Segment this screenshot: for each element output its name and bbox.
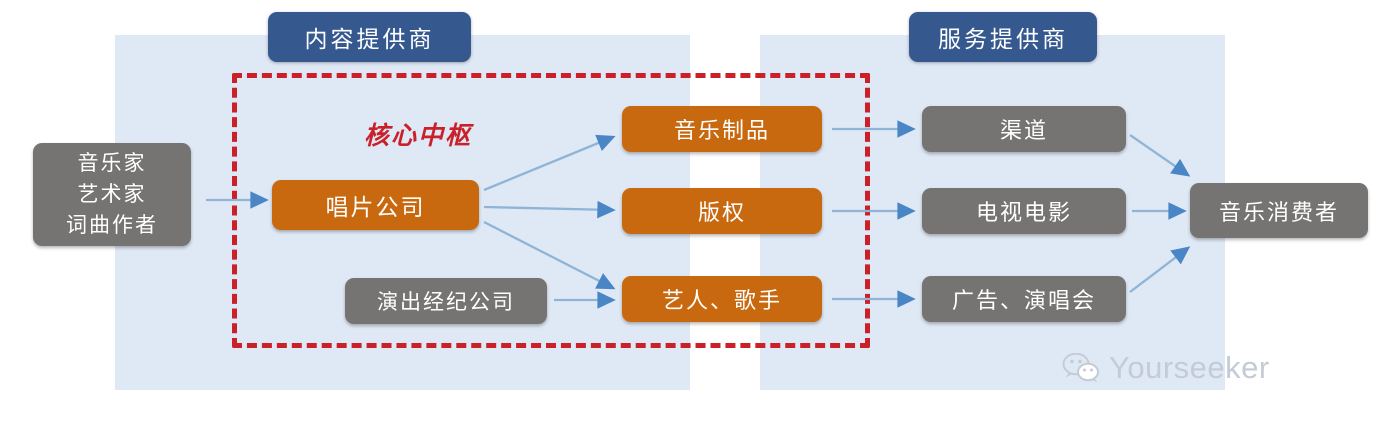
node-music-product-label: 音乐制品 [674, 113, 770, 145]
node-creators-line-3: 词曲作者 [66, 210, 158, 241]
edge-record-company-to-copyright [484, 207, 613, 210]
node-channel[interactable]: 渠道 [922, 106, 1126, 152]
node-channel-label: 渠道 [1000, 113, 1048, 145]
diagram-canvas: 内容提供商 服务提供商 音乐家 艺术家 词曲作者 核心中枢 [0, 0, 1397, 427]
node-creators-line-1: 音乐家 [78, 148, 147, 179]
watermark: Yourseeker [1062, 350, 1270, 386]
edge-channel-to-consumer [1130, 135, 1188, 175]
node-record-company[interactable]: 唱片公司 [272, 180, 479, 230]
node-record-company-label: 唱片公司 [326, 188, 426, 222]
node-performance-agency[interactable]: 演出经纪公司 [345, 278, 547, 324]
node-creators[interactable]: 音乐家 艺术家 词曲作者 [33, 143, 191, 246]
core-hub-label: 核心中枢 [333, 117, 503, 151]
node-copyright[interactable]: 版权 [622, 188, 822, 234]
wechat-icon [1062, 353, 1100, 383]
edge-ads-concerts-to-consumer [1130, 248, 1188, 292]
node-music-consumer[interactable]: 音乐消费者 [1190, 183, 1368, 238]
node-artist-singer[interactable]: 艺人、歌手 [622, 276, 822, 322]
node-tv-film[interactable]: 电视电影 [922, 188, 1126, 234]
node-tv-film-label: 电视电影 [976, 195, 1072, 227]
node-music-consumer-label: 音乐消费者 [1219, 195, 1339, 227]
node-copyright-label: 版权 [698, 195, 746, 227]
node-performance-agency-label: 演出经纪公司 [377, 286, 515, 316]
edge-record-company-to-music-product [484, 137, 613, 190]
node-music-product[interactable]: 音乐制品 [622, 106, 822, 152]
node-artist-singer-label: 艺人、歌手 [662, 283, 782, 315]
node-creators-line-2: 艺术家 [78, 179, 147, 210]
watermark-text: Yourseeker [1109, 350, 1270, 386]
node-ads-concerts[interactable]: 广告、演唱会 [922, 276, 1126, 322]
node-ads-concerts-label: 广告、演唱会 [952, 283, 1096, 315]
